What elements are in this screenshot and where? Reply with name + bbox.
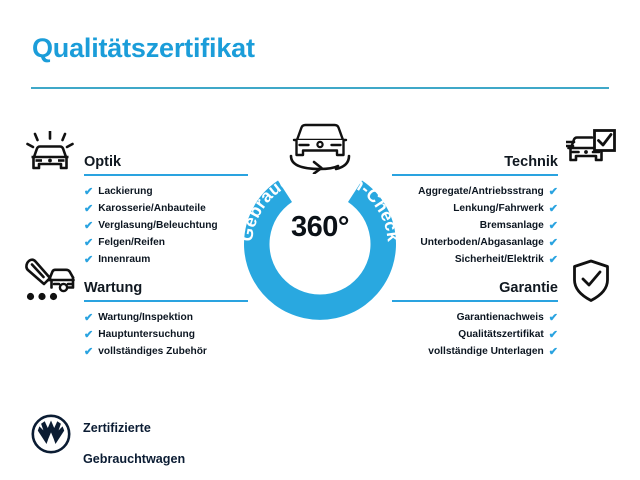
check-icon: ✔ [84, 347, 93, 358]
section-divider [392, 300, 558, 302]
section-title: Technik [504, 154, 558, 170]
section-wartung: Wartung✔Wartung/Inspektion✔Hauptuntersuc… [84, 272, 248, 361]
section-technik: TechnikAggregate/Antriebsstrang✔Lenkung/… [392, 146, 558, 269]
check-icon: ✔ [84, 238, 93, 249]
section-title: Optik [84, 154, 121, 170]
footer-text: Zertifizierte Gebrauchtwagen [83, 405, 185, 468]
car-checkbox-icon [566, 129, 616, 178]
check-icon: ✔ [549, 330, 558, 341]
list-item: Qualitätszertifikat✔ [392, 327, 558, 344]
footer-line-1: Zertifizierte [83, 421, 151, 435]
shield-check-icon [572, 259, 610, 308]
list-item: ✔Hauptuntersuchung [84, 327, 248, 344]
section-heading-garantie: Garantie [392, 272, 558, 298]
list-item: ✔Karosserie/Anbauteile [84, 201, 248, 218]
list-item-label: Garantienachweis [457, 313, 544, 323]
check-icon: ✔ [84, 330, 93, 341]
check-icon: ✔ [549, 255, 558, 266]
list-item-label: Innenraum [98, 255, 150, 265]
list-item: ✔Verglasung/Beleuchtung [84, 218, 248, 235]
list-item-label: Aggregate/Antriebsstrang [418, 187, 544, 197]
check-icon: ✔ [84, 313, 93, 324]
vw-logo [31, 414, 71, 459]
checklist: ✔Lackierung✔Karosserie/Anbauteile✔Vergla… [84, 184, 248, 269]
list-item-label: Karosserie/Anbauteile [98, 204, 206, 214]
section-divider [84, 174, 248, 176]
footer-line-2: Gebrauchtwagen [83, 452, 185, 466]
wrench-car-icon [23, 258, 75, 308]
section-title: Wartung [84, 280, 142, 296]
check-icon: ✔ [549, 347, 558, 358]
list-item-label: Sicherheit/Elektrik [455, 255, 544, 265]
list-item-label: Lackierung [98, 187, 152, 197]
checklist: Aggregate/Antriebsstrang✔Lenkung/Fahrwer… [392, 184, 558, 269]
section-garantie: GarantieGarantienachweis✔Qualitätszertif… [392, 272, 558, 361]
list-item: Garantienachweis✔ [392, 310, 558, 327]
list-item: Unterboden/Abgasanlage✔ [392, 235, 558, 252]
list-item: Sicherheit/Elektrik✔ [392, 252, 558, 269]
check-icon: ✔ [84, 221, 93, 232]
checklist: ✔Wartung/Inspektion✔Hauptuntersuchung✔vo… [84, 310, 248, 361]
list-item-label: Lenkung/Fahrwerk [453, 204, 544, 214]
list-item-label: Hauptuntersuchung [98, 330, 195, 340]
list-item: Aggregate/Antriebsstrang✔ [392, 184, 558, 201]
check-icon: ✔ [549, 204, 558, 215]
list-item: ✔Lackierung [84, 184, 248, 201]
list-item: ✔vollständiges Zubehör [84, 344, 248, 361]
page-title: Qualitätszertifikat [32, 33, 255, 64]
list-item-label: Wartung/Inspektion [98, 313, 193, 323]
check-icon: ✔ [84, 204, 93, 215]
section-heading-technik: Technik [392, 146, 558, 172]
check-icon: ✔ [84, 255, 93, 266]
list-item-label: vollständiges Zubehör [98, 347, 207, 357]
check-icon: ✔ [549, 313, 558, 324]
section-optik: Optik✔Lackierung✔Karosserie/Anbauteile✔V… [84, 146, 248, 269]
section-divider [392, 174, 558, 176]
list-item: ✔Felgen/Reifen [84, 235, 248, 252]
list-item-label: vollständige Unterlagen [428, 347, 543, 357]
section-heading-wartung: Wartung [84, 272, 248, 298]
section-divider [84, 300, 248, 302]
list-item-label: Bremsanlage [480, 221, 544, 231]
section-title: Garantie [499, 280, 558, 296]
certificate-page: Qualitätszertifikat [0, 0, 640, 480]
car-shine-icon [26, 131, 74, 180]
check-icon: ✔ [549, 221, 558, 232]
badge-center-label: 360° [231, 211, 409, 244]
list-item-label: Unterboden/Abgasanlage [420, 238, 543, 248]
list-item-label: Qualitätszertifikat [458, 330, 544, 340]
car-rotation-icon [284, 118, 356, 179]
360-check-badge: Gebrauchtwagen-Check 360° [231, 153, 409, 331]
checklist: Garantienachweis✔Qualitätszertifikat✔vol… [392, 310, 558, 361]
list-item-label: Felgen/Reifen [98, 238, 165, 248]
list-item: ✔Innenraum [84, 252, 248, 269]
list-item: ✔Wartung/Inspektion [84, 310, 248, 327]
list-item: vollständige Unterlagen✔ [392, 344, 558, 361]
list-item: Bremsanlage✔ [392, 218, 558, 235]
list-item-label: Verglasung/Beleuchtung [98, 221, 217, 231]
list-item: Lenkung/Fahrwerk✔ [392, 201, 558, 218]
header-divider [31, 87, 609, 89]
footer-brand: Zertifizierte Gebrauchtwagen [31, 405, 185, 468]
check-icon: ✔ [549, 238, 558, 249]
section-heading-optik: Optik [84, 146, 248, 172]
check-icon: ✔ [84, 187, 93, 198]
check-icon: ✔ [549, 187, 558, 198]
